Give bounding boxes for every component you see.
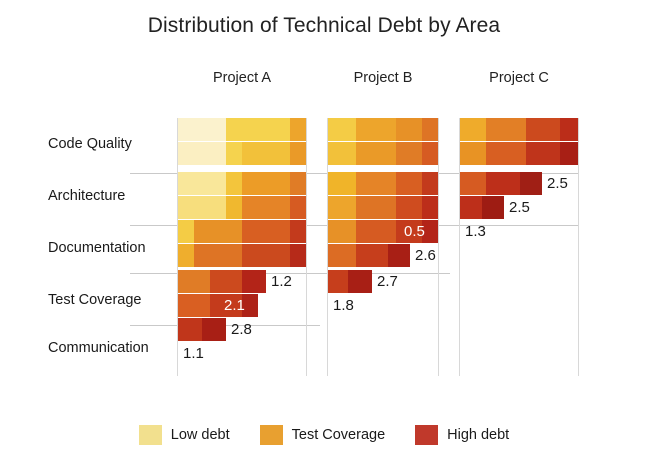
legend-swatch-icon (415, 425, 438, 445)
heat-cell (328, 244, 356, 267)
heat-band (328, 270, 372, 293)
heat-cell (356, 244, 388, 267)
heat-cell (178, 220, 194, 243)
heat-cell (194, 220, 242, 243)
heat-band (328, 118, 438, 141)
heat-cell (242, 196, 290, 219)
gridline-vertical (306, 118, 307, 376)
legend-swatch-icon (139, 425, 162, 445)
legend-item[interactable]: High debt (415, 425, 509, 445)
heat-cell (178, 142, 226, 165)
heat-cell (560, 142, 578, 165)
legend-label: High debt (447, 427, 509, 443)
cell-value-label: 1.3 (465, 220, 486, 243)
heat-cell (226, 196, 242, 219)
heat-cell (460, 172, 486, 195)
heat-cell (178, 318, 202, 341)
heat-cell (486, 172, 520, 195)
cell-value-label: 1.1 (183, 342, 204, 365)
heat-cell (290, 172, 306, 195)
heat-cell (526, 118, 560, 141)
gridline-vertical (438, 118, 439, 376)
heat-cell (396, 142, 422, 165)
heat-cell (356, 196, 396, 219)
heat-cell (460, 118, 486, 141)
heat-band (328, 196, 438, 219)
heat-cell (242, 270, 266, 293)
heat-band (328, 244, 410, 267)
heat-cell (482, 196, 504, 219)
heat-cell (226, 172, 242, 195)
cell-value-label: 0.5 (404, 220, 425, 243)
heat-band (178, 196, 306, 219)
heat-cell (422, 142, 438, 165)
heat-cell (460, 196, 482, 219)
gridline-vertical (578, 118, 579, 376)
row-label-code-quality: Code Quality (48, 136, 132, 152)
heat-band (460, 142, 578, 165)
heat-cell (226, 142, 242, 165)
chart-root: Distribution of Technical Debt by Area P… (0, 0, 648, 466)
heat-band (460, 172, 542, 195)
legend-label: Test Coverage (292, 427, 386, 443)
heat-band (460, 196, 504, 219)
heat-cell (328, 196, 356, 219)
heat-cell (210, 270, 242, 293)
column-header-project-a: Project A (178, 70, 306, 86)
heat-cell (242, 244, 290, 267)
heat-cell (178, 118, 226, 141)
heat-cell (194, 244, 242, 267)
heat-cell (226, 118, 290, 141)
chart-legend: Low debtTest CoverageHigh debt (0, 425, 648, 445)
heat-cell (396, 118, 422, 141)
heat-band (178, 294, 258, 317)
heat-cell (202, 318, 226, 341)
cell-value-label: 1.8 (333, 294, 354, 317)
chart-title: Distribution of Technical Debt by Area (0, 14, 648, 38)
heat-cell (290, 142, 306, 165)
heat-band (328, 142, 438, 165)
heat-cell (242, 220, 290, 243)
heat-cell (290, 244, 306, 267)
row-label-test-coverage: Test Coverage (48, 292, 142, 308)
legend-item[interactable]: Low debt (139, 425, 230, 445)
heat-cell (356, 118, 396, 141)
heat-cell (388, 244, 410, 267)
heat-cell (486, 142, 526, 165)
heat-cell (460, 142, 486, 165)
heat-cell (328, 118, 356, 141)
cell-value-label: 1.2 (271, 270, 292, 293)
heat-cell (290, 220, 306, 243)
row-label-documentation: Documentation (48, 240, 146, 256)
heat-cell (242, 142, 290, 165)
heat-band (178, 270, 266, 293)
heat-cell (290, 118, 306, 141)
row-label-architecture: Architecture (48, 188, 125, 204)
cell-value-label: 2.6 (415, 244, 436, 267)
heat-cell (178, 270, 210, 293)
heat-cell (356, 142, 396, 165)
legend-item[interactable]: Test Coverage (260, 425, 386, 445)
heat-band (178, 142, 306, 165)
heat-cell (356, 220, 396, 243)
heat-cell (356, 172, 396, 195)
legend-label: Low debt (171, 427, 230, 443)
cell-value-label: 2.7 (377, 270, 398, 293)
heat-cell (486, 118, 526, 141)
plot-area: Code Quality Architecture Documentation … (0, 118, 648, 376)
heat-cell (396, 172, 422, 195)
heat-cell (242, 172, 290, 195)
column-header-project-c: Project C (460, 70, 578, 86)
heat-cell (396, 196, 422, 219)
heat-cell (178, 172, 226, 195)
column-header-project-b: Project B (328, 70, 438, 86)
heat-cell (178, 294, 210, 317)
heat-cell (328, 270, 348, 293)
heat-cell (348, 270, 372, 293)
heat-cell (422, 172, 438, 195)
heat-cell (422, 118, 438, 141)
row-label-communication: Communication (48, 340, 149, 356)
heat-band (178, 318, 226, 341)
heat-cell (328, 172, 356, 195)
cell-value-label: 2.1 (224, 294, 245, 317)
heat-band (178, 118, 306, 141)
heat-cell (520, 172, 542, 195)
heat-cell (560, 118, 578, 141)
heat-band (178, 244, 306, 267)
heat-cell (422, 196, 438, 219)
heat-cell (178, 196, 226, 219)
cell-value-label: 2.8 (231, 318, 252, 341)
cell-value-label: 2.5 (547, 172, 568, 195)
heat-cell (178, 244, 194, 267)
heat-cell (526, 142, 560, 165)
legend-swatch-icon (260, 425, 283, 445)
heat-cell (328, 220, 356, 243)
heat-cell (328, 142, 356, 165)
heat-band (460, 118, 578, 141)
heat-band (178, 172, 306, 195)
cell-value-label: 2.5 (509, 196, 530, 219)
heat-cell (290, 196, 306, 219)
heat-band (178, 220, 306, 243)
heat-band (328, 172, 438, 195)
